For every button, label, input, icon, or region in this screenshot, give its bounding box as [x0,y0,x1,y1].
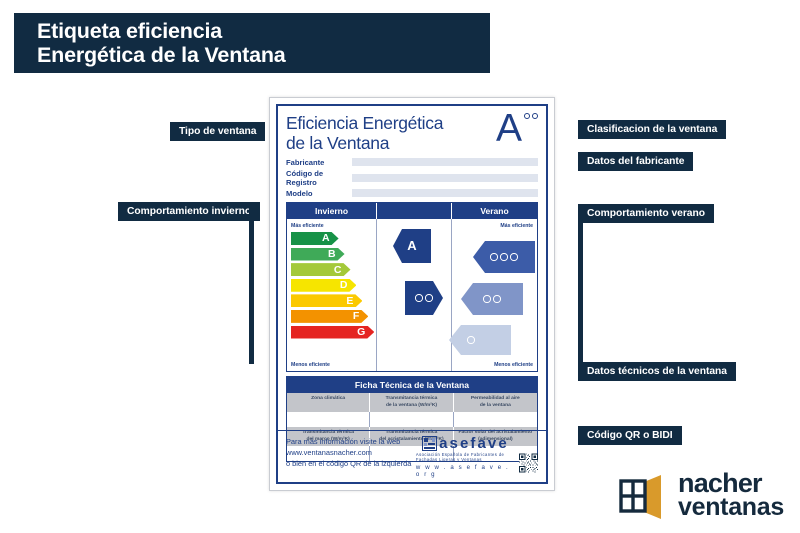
qr-code-icon[interactable] [519,448,538,478]
callout-label: Datos técnicos de la ventana [587,366,727,377]
energy-bar-g: G [291,326,374,339]
rating-mark: A [496,109,538,148]
asefave-mark-icon [422,436,437,451]
field-input-fabricante[interactable] [352,158,538,166]
callout-datos-fabricante: Datos del fabricante [578,152,693,171]
energy-bar-letter: D [340,279,348,291]
window-icon [617,471,671,519]
callout-clasificacion: Clasificacion de la ventana [578,120,726,139]
tech-cell-permeabilidad-aire: Permeabilidad al aire de la ventana [454,393,537,412]
field-label: Código de Registro [286,169,352,187]
season-header-verano: Verano [452,203,537,219]
summer-scale-level-2 [461,283,523,315]
ring-icon [467,336,475,344]
winter-column: Más eficiente A B C D [287,219,377,371]
energy-bar-f: F [291,310,368,323]
summer-rings-2 [483,295,501,303]
callout-comportamiento-verano: Comportamiento verano [578,204,714,223]
tech-cell-transmitancia-ventana: Transmitancia térmica de la ventana (W/m… [370,393,453,412]
callout-label: Comportamiento verano [587,208,705,219]
summer-scale-level-3 [473,241,535,273]
energy-bar-letter: B [328,248,336,260]
energy-bar-e: E [291,294,362,307]
tech-table-title: Ficha Técnica de la Ventana [287,377,537,393]
callout-bracket-verano [578,204,583,364]
summer-column: Más eficiente [452,219,537,371]
summer-rings-1 [467,336,475,344]
energy-bar-letter: G [357,326,365,338]
ring-icon [493,295,501,303]
summer-scale-level-1 [449,325,511,355]
footer-logos: asefave Asociación Española de Fabricant… [416,436,538,478]
asefave-logo: asefave Asociación Española de Fabricant… [416,436,515,478]
tech-value-permeabilidad-aire[interactable] [454,412,537,427]
energy-bar-d: D [291,279,356,292]
ring-icon [425,294,433,302]
field-input-modelo[interactable] [352,189,538,197]
summer-least-efficient-note: Menos eficiente [494,362,533,368]
label-header: Eficiencia Energética de la Ventana A [286,113,538,154]
rating-dot-icon [532,113,538,119]
summer-most-efficient-note: Más eficiente [452,223,533,229]
winter-most-efficient-note: Más eficiente [291,223,376,229]
energy-bar-letter: A [322,232,330,244]
callout-label: Código QR o BIDI [587,430,673,441]
ring-icon [500,253,508,261]
label-footer: Para más información visite la web www.v… [278,430,546,482]
summer-rings-3 [490,253,518,261]
field-label: Modelo [286,189,352,198]
tech-header-row-1: Zona climática Transmitancia térmica de … [287,393,537,412]
asefave-tagline: Asociación Española de Fabricantes de Fa… [416,452,515,462]
page-title-banner: Etiqueta eficiencia Energética de la Ven… [14,13,490,73]
callout-label: Comportamiento invierno [127,206,251,217]
winter-class-letter: A [407,238,416,253]
energy-bar-letter: F [353,310,359,322]
energy-bar-letter: C [334,264,342,276]
field-label: Fabricante [286,158,352,167]
asefave-logo-row: asefave [422,436,509,451]
rating-dots [524,113,538,119]
callout-bracket-invierno [249,202,254,364]
tech-value-zona-climatica[interactable] [287,412,370,427]
footer-info-text: Para más información visite la web www.v… [286,436,416,469]
asefave-wordmark: asefave [439,436,509,451]
ring-icon [483,295,491,303]
label-title: Eficiencia Energética de la Ventana [286,113,443,154]
ring-icon [415,294,423,302]
callout-label: Tipo de ventana [179,126,256,137]
nacher-logo: nacher ventanas [617,471,784,519]
nacher-wordmark: nacher ventanas [678,472,784,518]
tech-cell-zona-climatica: Zona climática [287,393,370,412]
field-row-fabricante: Fabricante [286,158,538,167]
page-title: Etiqueta eficiencia Energética de la Ven… [37,19,286,68]
season-header-row: Invierno Verano [287,203,537,219]
summer-class-rings [415,294,433,302]
winter-least-efficient-note: Menos eficiente [291,362,330,368]
field-input-codigo-registro[interactable] [352,174,538,182]
tech-value-row-1[interactable] [287,412,537,427]
energy-bar-a: A [291,232,339,245]
season-header-invierno: Invierno [287,203,377,219]
winter-class-arrow: A [393,229,431,263]
nacher-subname: ventanas [678,496,784,518]
field-row-modelo: Modelo [286,189,538,198]
manufacturer-fields: Fabricante Código de Registro Modelo [286,158,538,198]
middle-column: A [377,219,452,371]
energy-bar-letter: E [346,295,353,307]
winter-energy-scale: A B C D E [291,232,376,339]
energy-label-inner: Eficiencia Energética de la Ventana A Fa… [276,104,548,484]
season-section: Invierno Verano Más eficiente A B [286,202,538,372]
callout-codigo-qr: Código QR o BIDI [578,426,682,445]
rating-letter: A [496,109,522,148]
callout-comportamiento-invierno: Comportamiento invierno [118,202,260,221]
season-body: Más eficiente A B C D [287,219,537,371]
ring-icon [510,253,518,261]
callout-label: Clasificacion de la ventana [587,124,717,135]
field-row-codigo-registro: Código de Registro [286,169,538,187]
tech-value-transmitancia-ventana[interactable] [370,412,453,427]
summer-class-arrow [405,281,443,315]
ring-icon [490,253,498,261]
energy-bar-b: B [291,248,345,261]
energy-label-card: Eficiencia Energética de la Ventana A Fa… [269,97,555,491]
energy-bar-c: C [291,263,351,276]
asefave-url: w w w . a s e f a v e . o r g [416,464,515,478]
callout-tipo-ventana: Tipo de ventana [170,122,265,141]
rating-dot-icon [524,113,530,119]
season-header-middle [377,203,452,219]
callout-label: Datos del fabricante [587,156,684,167]
callout-datos-tecnicos: Datos técnicos de la ventana [578,362,736,381]
